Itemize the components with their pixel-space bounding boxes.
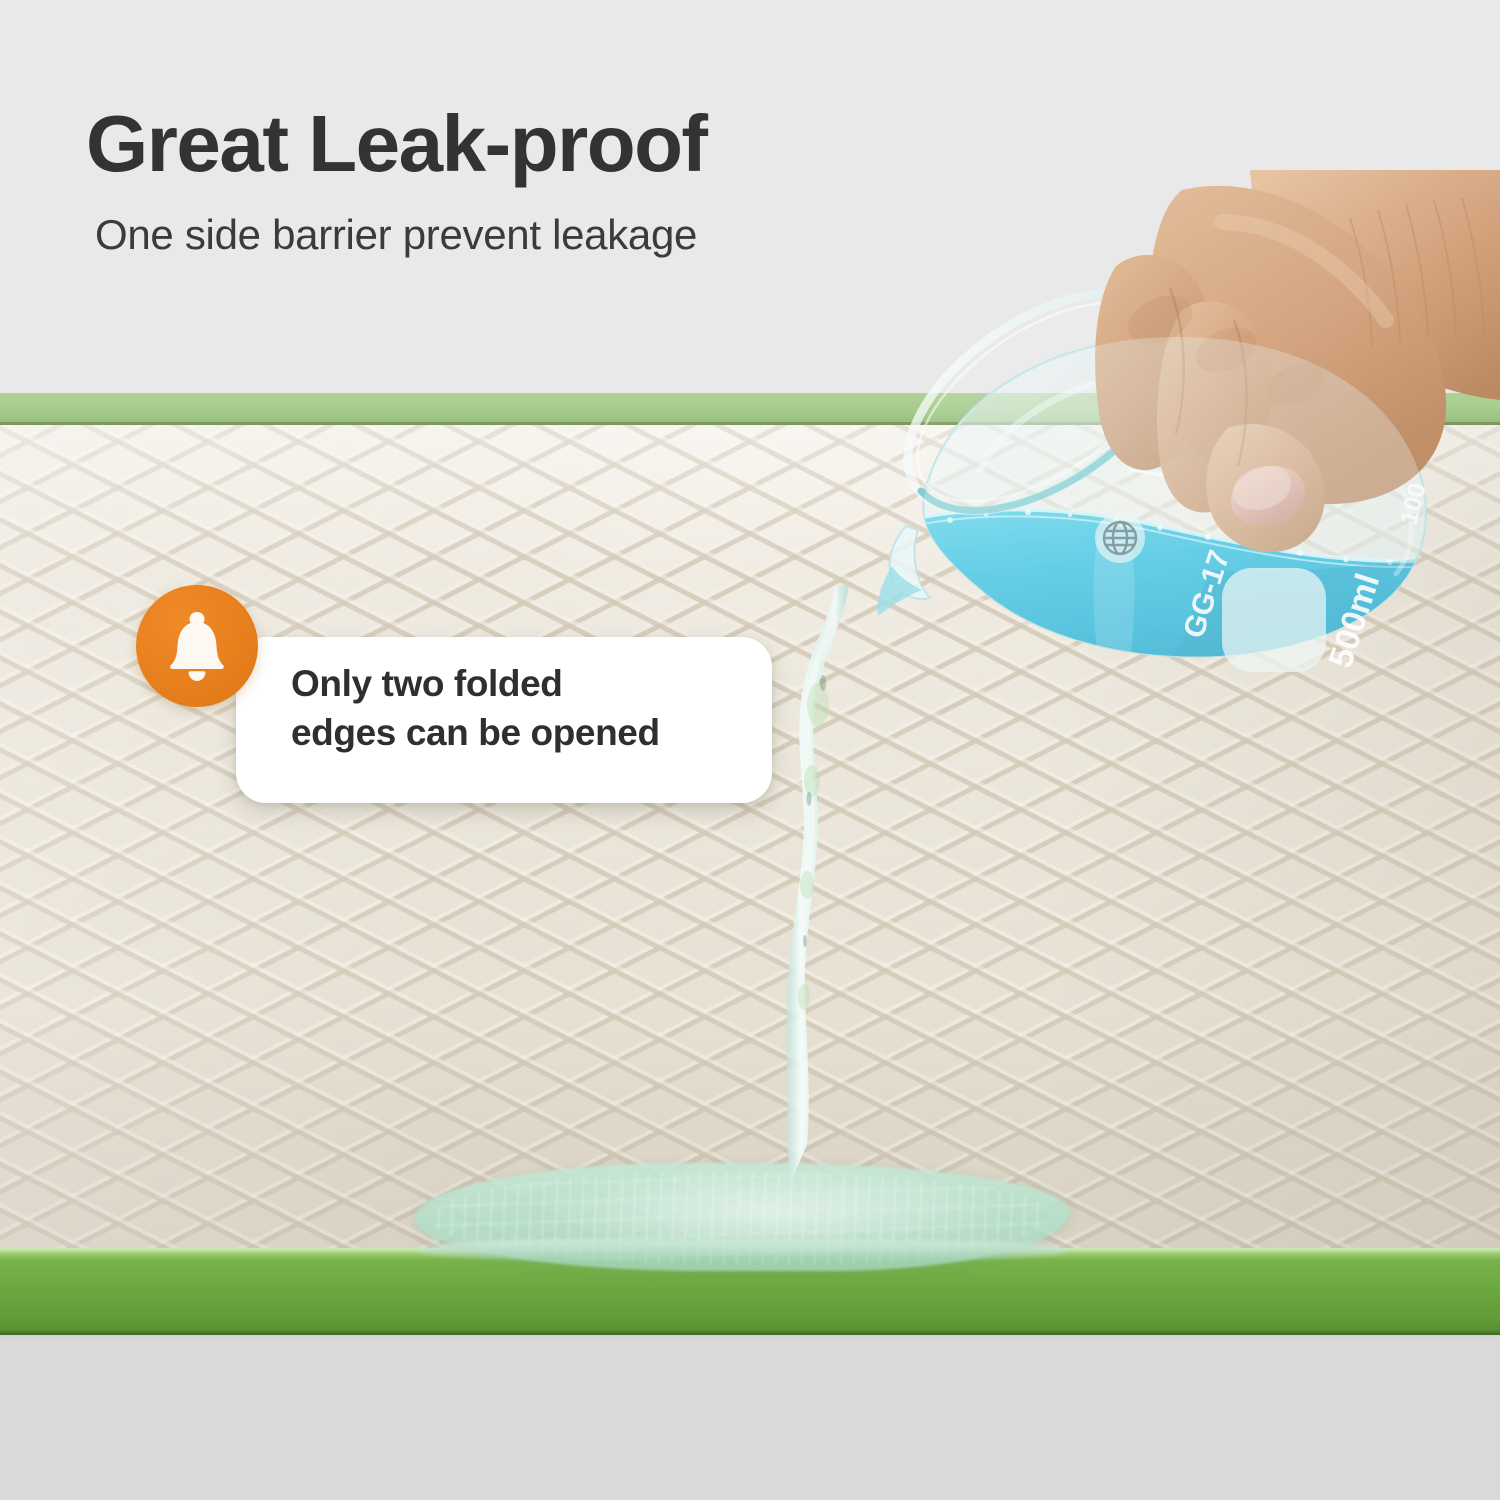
page-subtitle: One side barrier prevent leakage: [95, 214, 697, 256]
hand-pouring-beaker: 500 APPROX 300 200 100 GG-17 500ml: [830, 170, 1500, 750]
callout-badge: [136, 585, 258, 707]
puddle-front-edge: [418, 1240, 1068, 1260]
callout-line-1: Only two folded: [291, 659, 751, 708]
background-lower: [0, 1330, 1500, 1500]
page-title: Great Leak-proof: [86, 104, 707, 184]
callout-line-2: edges can be opened: [291, 708, 751, 757]
feature-callout: Only two folded edges can be opened: [136, 585, 776, 815]
callout-text: Only two folded edges can be opened: [291, 659, 751, 757]
bell-icon: [164, 611, 230, 681]
product-feature-image: 500 APPROX 300 200 100 GG-17 500ml: [0, 0, 1500, 1500]
